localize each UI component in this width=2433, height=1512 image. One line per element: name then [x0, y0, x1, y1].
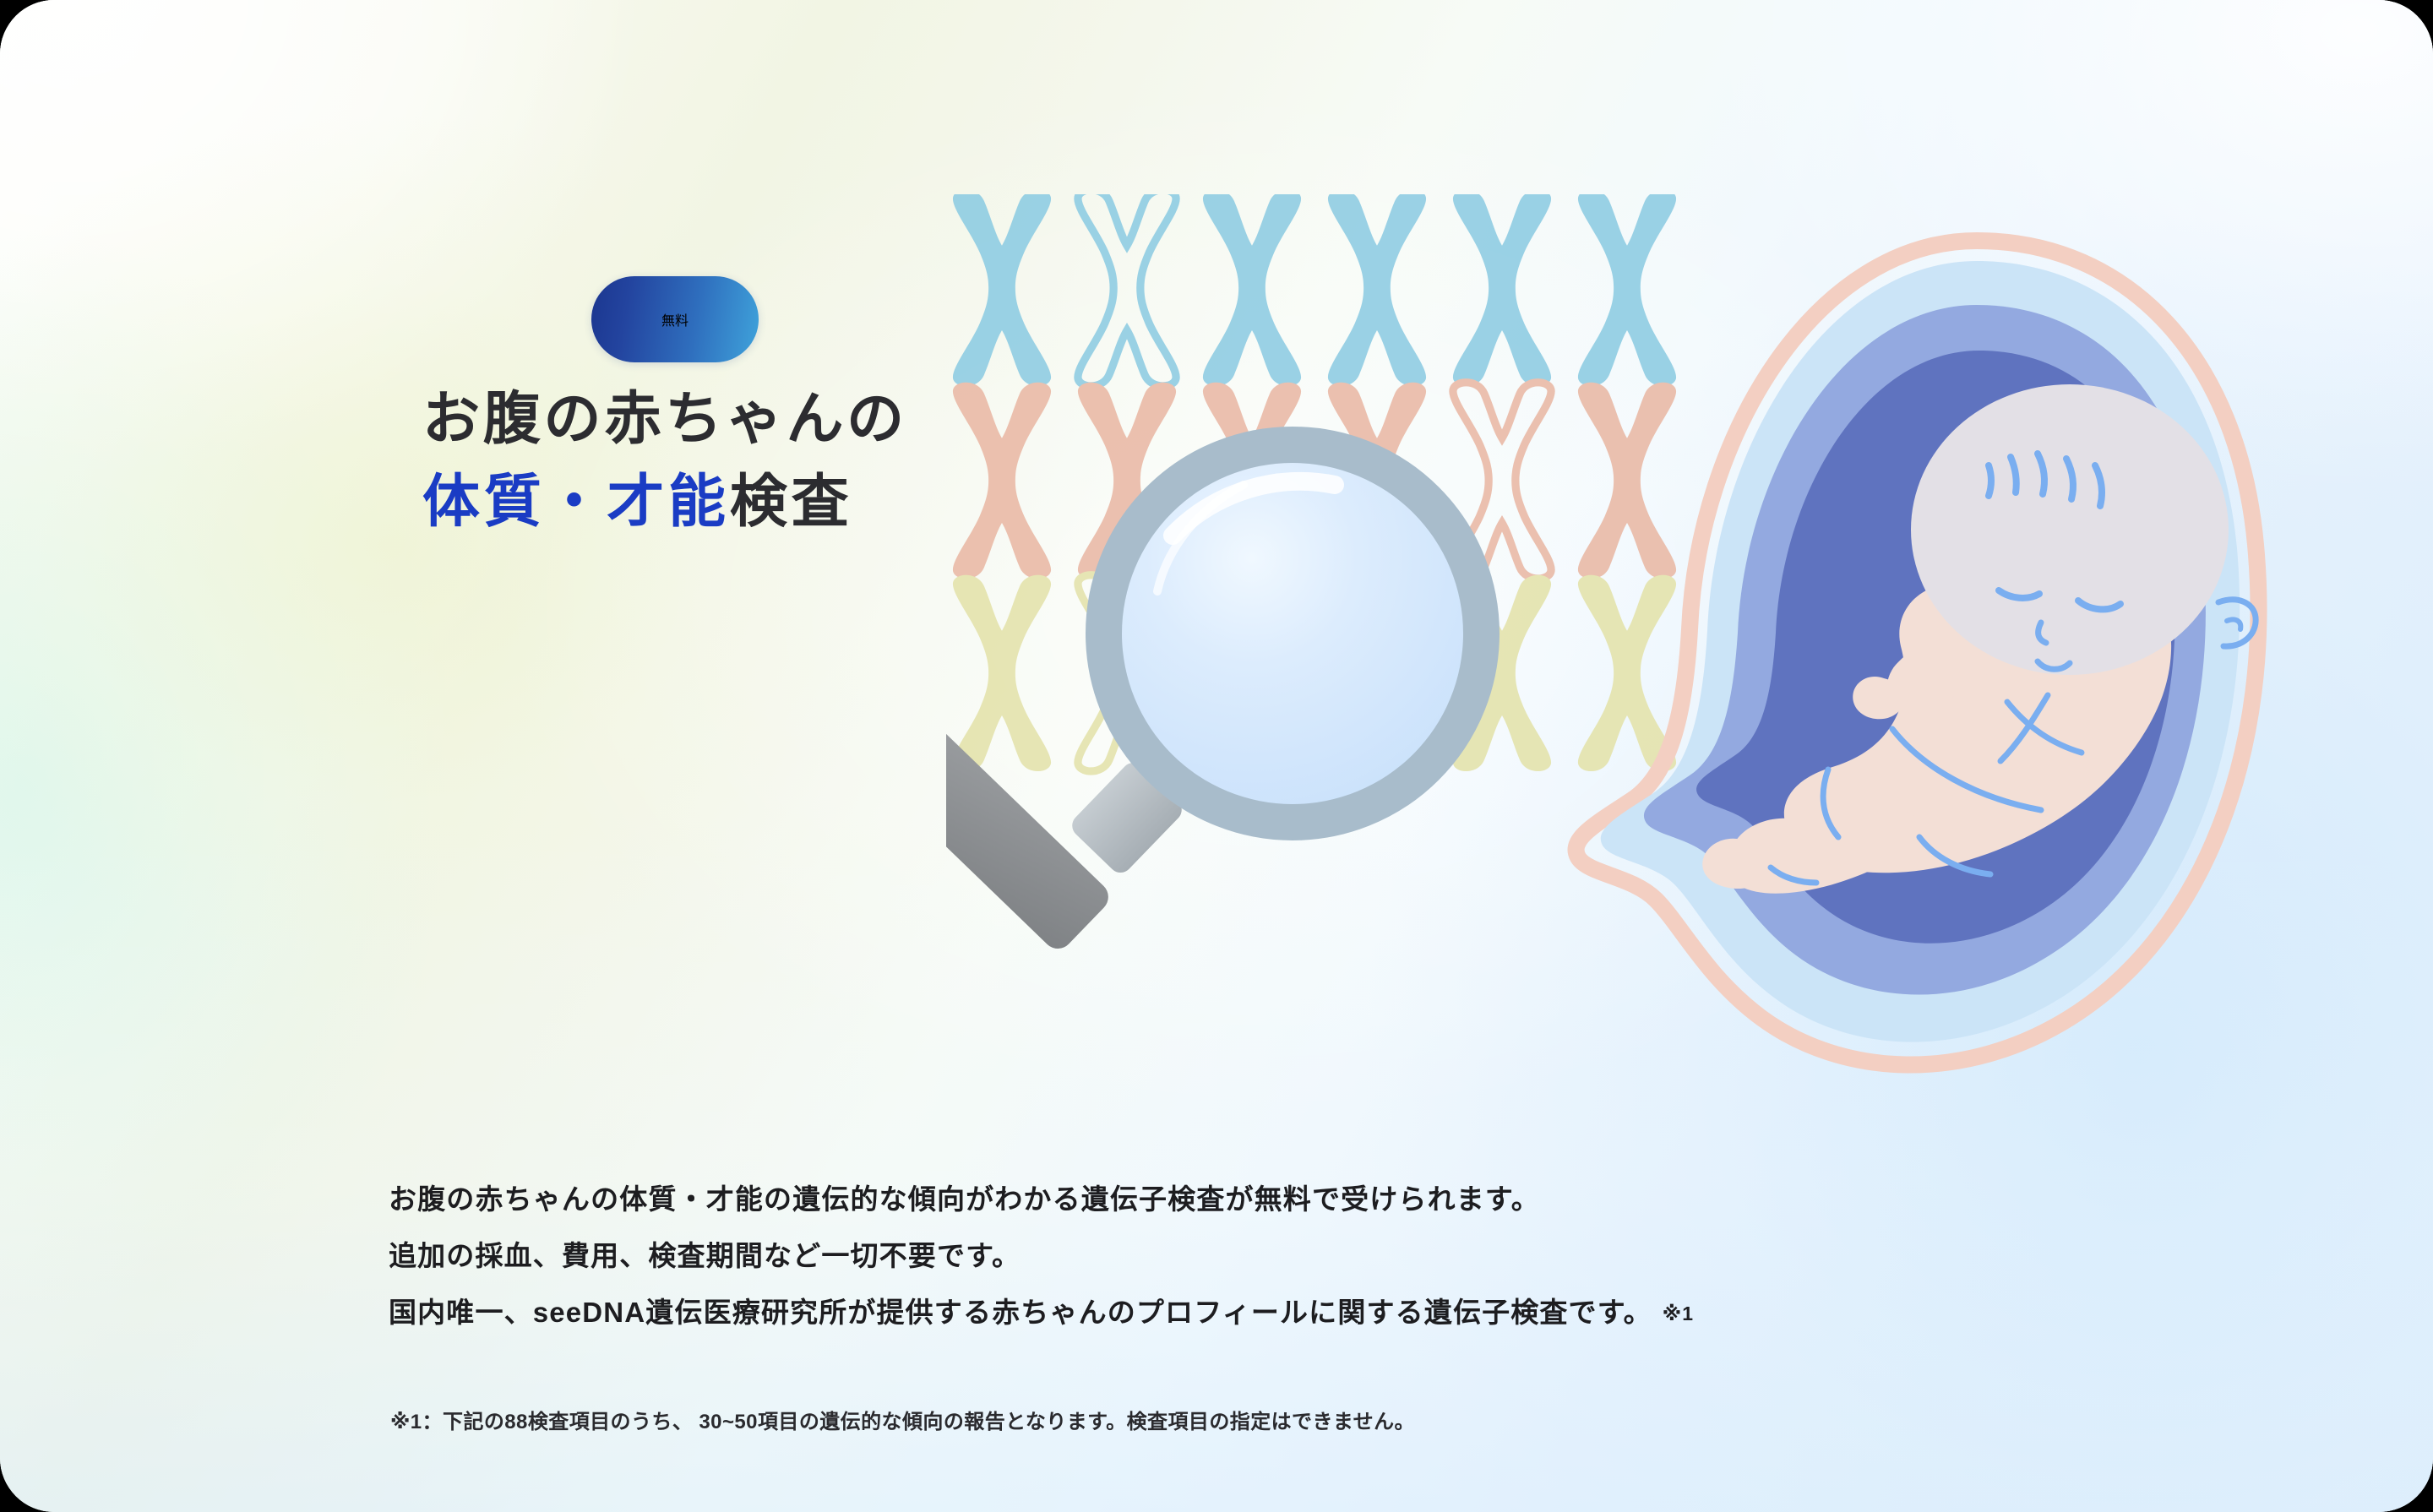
- description-line-2: 追加の採血、費用、検査期間など一切不要です。: [389, 1242, 2078, 1270]
- free-badge-label: 無料: [661, 309, 689, 329]
- description-line-3-text: 国内唯一、seeDNA遺伝医療研究所が提供する赤ちゃんのプロフィールに関する遺伝…: [389, 1297, 1652, 1328]
- page-title: お腹の赤ちゃんの 体質・才能検査: [422, 382, 1318, 540]
- footnote-reference-mark: ※1: [1663, 1303, 1694, 1324]
- description-block: お腹の赤ちゃんの体質・才能の遺伝的な傾向がわかる遺伝子検査が無料で受けられます。…: [389, 1185, 2078, 1326]
- description-line-3: 国内唯一、seeDNA遺伝医療研究所が提供する赤ちゃんのプロフィールに関する遺伝…: [389, 1298, 2078, 1326]
- free-badge: 無料: [591, 276, 759, 362]
- headline-highlight: 体質・才能: [422, 470, 730, 534]
- description-line-1: お腹の赤ちゃんの体質・才能の遺伝的な傾向がわかる遺伝子検査が無料で受けられます。: [389, 1185, 2078, 1213]
- headline-rest: 検査: [730, 470, 853, 534]
- hero-illustration: [946, 194, 2382, 1174]
- footnote-text: ※1：下記の88検査項目のうち、 30~50項目の遺伝的な傾向の報告となります。…: [390, 1405, 1415, 1434]
- headline-line-2: 体質・才能検査: [422, 465, 1318, 539]
- baby-head: [1911, 384, 2229, 675]
- headline-line-1: お腹の赤ちゃんの: [422, 382, 1318, 456]
- womb-with-baby: [1576, 241, 2259, 1065]
- promo-card: 無料 お腹の赤ちゃんの 体質・才能検査 お腹の赤ちゃんの体質・才能の遺伝的な傾向…: [0, 0, 2433, 1512]
- chromosome-row-blue: [953, 194, 1676, 386]
